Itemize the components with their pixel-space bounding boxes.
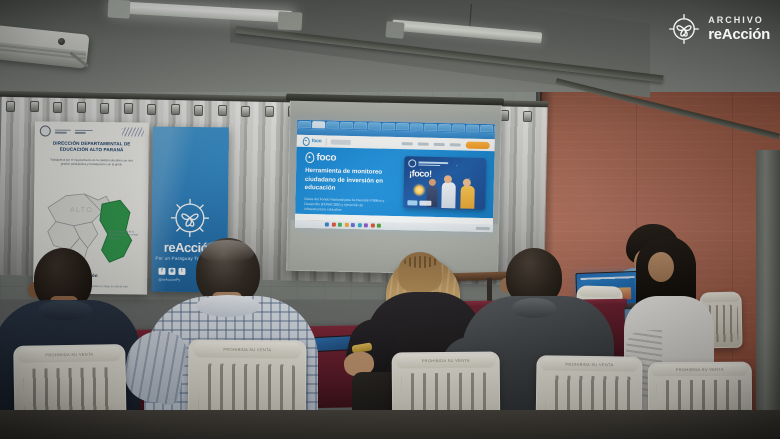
archivo-reaccion-watermark: ARCHIVO reAcción	[667, 12, 770, 46]
hero-illustration-card[interactable]: ¡foco!	[403, 156, 486, 210]
chair-emboss: PROHIBIDA SU VENTA	[676, 367, 724, 372]
nav-links[interactable]	[402, 142, 461, 146]
attendee-checked-hair	[200, 240, 254, 262]
attendee-blonde-hair-part	[404, 256, 438, 268]
tube-bracket	[385, 21, 404, 39]
play-circle-icon	[408, 159, 416, 167]
curtain-grommet	[523, 111, 532, 122]
chair-emboss: PROHIBIDA SU VENTA	[565, 361, 613, 367]
taskbar-icon[interactable]	[344, 223, 348, 227]
poster-title: DIRECCIÓN DEPARTAMENTAL DE EDUCACIÓN ALT…	[43, 140, 141, 153]
site-subtitle	[330, 139, 350, 144]
browser-tab[interactable]	[452, 124, 465, 131]
taskbar-icon[interactable]	[370, 223, 374, 227]
attendee-grey-suit-collar	[512, 298, 556, 318]
curtain-grommet	[217, 105, 226, 116]
browser-tab[interactable]	[466, 125, 479, 132]
signature-mark	[122, 127, 144, 136]
poster-side-note: Desarrollo integral de la persona para u…	[108, 230, 142, 241]
curtain-grommet	[170, 104, 179, 115]
floor	[0, 410, 780, 439]
site-logo-text: foco	[312, 138, 322, 144]
nav-link[interactable]	[450, 143, 461, 146]
lightbulb-pin-icon	[305, 152, 314, 163]
nav-cta-button[interactable]	[466, 141, 490, 149]
hero-section: foco Herramienta de monitoreo ciudadano …	[295, 147, 494, 218]
poster-subtitle: Trabajamos por el mejoramiento de la cal…	[47, 158, 135, 167]
curtain-grommet	[241, 105, 250, 116]
hero-headline: Herramienta de monitoreo ciudadano de in…	[305, 167, 394, 194]
chair-emboss: PROHIBIDA SU VENTA	[422, 358, 470, 363]
government-seal-icon	[40, 125, 51, 136]
curtain-grommet	[194, 105, 203, 116]
hero-wordmark: foco	[316, 153, 336, 163]
nav-link[interactable]	[434, 142, 445, 145]
right-column	[756, 150, 780, 439]
watermark-line-1: ARCHIVO	[708, 16, 770, 25]
browser-tab[interactable]	[354, 122, 367, 129]
curtain-grommet	[6, 101, 15, 112]
nav-link[interactable]	[418, 142, 429, 145]
watermark-text: ARCHIVO reAcción	[708, 16, 770, 42]
hero-logo: foco	[305, 152, 397, 165]
browser-tab[interactable]	[368, 122, 381, 129]
watermark-line-2: reAcción	[708, 27, 770, 42]
browser-tab[interactable]	[494, 125, 495, 132]
browser-tab[interactable]	[312, 121, 325, 128]
illustration-figure-3	[460, 185, 475, 208]
banner-social-icons: f ◉ t	[158, 268, 185, 275]
curtain-grommet	[53, 102, 62, 113]
secondary-logo-lines	[75, 129, 93, 133]
attendee-white-jacket-face	[648, 252, 674, 282]
taskbar-icon[interactable]	[331, 223, 335, 227]
poster-logo-row	[40, 125, 144, 137]
photo-scene: foco foco Herramienta de monitoreo ciuda…	[0, 0, 780, 439]
attendee-checked-collar	[196, 295, 260, 317]
card-logos	[407, 200, 431, 206]
hero-subtext: Datos del Fondo Nacional para la Inversi…	[304, 196, 384, 213]
divider	[325, 138, 326, 145]
browser-tab[interactable]	[424, 124, 437, 131]
reaccion-knot-icon	[667, 12, 701, 46]
attendee-navy-collar	[38, 300, 92, 320]
taskbar-icon[interactable]	[325, 222, 329, 226]
taskbar-icon[interactable]	[338, 223, 342, 227]
card-badge	[408, 159, 448, 168]
curtain-grommet	[76, 102, 85, 113]
curtain-grommet	[123, 103, 132, 114]
curtain-grommet	[264, 106, 273, 117]
ministry-logo-lines	[55, 129, 71, 133]
banner-handle: @reAccionPy	[158, 278, 180, 282]
browser-tab[interactable]	[340, 122, 353, 129]
browser-tab[interactable]	[438, 124, 451, 131]
projected-browser-window: foco foco Herramienta de monitoreo ciuda…	[295, 120, 495, 232]
browser-tab[interactable]	[298, 121, 311, 128]
nav-link[interactable]	[402, 142, 413, 145]
curtain-grommet	[147, 104, 156, 115]
browser-tab[interactable]	[410, 123, 423, 130]
foco-logo-icon	[419, 201, 431, 206]
illustration-figure-2	[441, 182, 456, 208]
curtain-grommet	[100, 103, 109, 114]
curtain-grommet	[29, 101, 38, 112]
tube-bracket-left	[108, 0, 131, 19]
reaccion-logo-icon	[407, 200, 417, 205]
taskbar-clock	[476, 226, 490, 229]
site-logo[interactable]: foco	[303, 136, 322, 145]
chair-emboss: PROHIBIDA SU VENTA	[45, 351, 93, 357]
taskbar-icon[interactable]	[357, 223, 361, 227]
reaccion-knot-icon	[169, 197, 211, 239]
taskbar-icon[interactable]	[364, 223, 368, 227]
twitter-icon: t	[178, 268, 185, 275]
browser-tab[interactable]	[480, 125, 493, 132]
lightbulb-pin-icon	[303, 136, 310, 145]
browser-tab[interactable]	[382, 123, 395, 130]
svg-text:ALTO: ALTO	[70, 207, 93, 214]
instagram-icon: ◉	[168, 268, 175, 275]
facebook-icon: f	[158, 268, 165, 275]
taskbar-icon[interactable]	[377, 224, 381, 228]
tube-bracket-right	[278, 11, 303, 30]
taskbar-icon[interactable]	[351, 223, 355, 227]
browser-tab[interactable]	[326, 121, 339, 128]
card-title: ¡foco!	[409, 169, 432, 179]
browser-tab[interactable]	[396, 123, 409, 130]
chair-emboss: PROHIBIDA SU VENTA	[223, 347, 271, 353]
card-badge-lines	[418, 161, 448, 166]
